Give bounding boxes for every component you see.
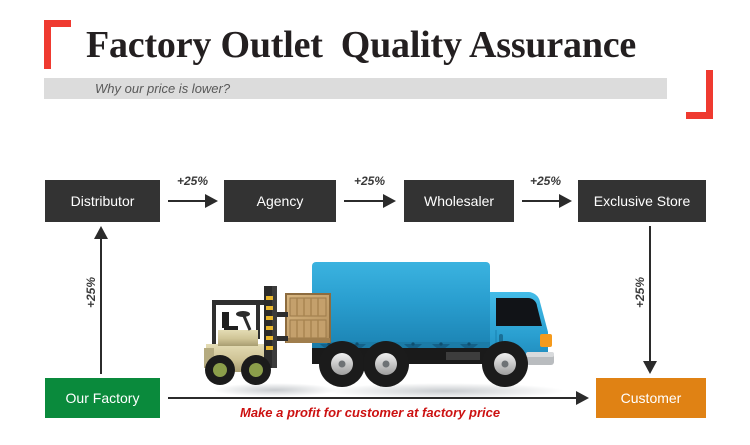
arrow-shaft	[100, 237, 102, 374]
direct-sale-caption: Make a profit for customer at factory pr…	[240, 405, 500, 420]
subtitle-text: Why our price is lower?	[95, 78, 230, 99]
arrow-shaft	[344, 200, 384, 202]
flow-node-label: Distributor	[71, 193, 135, 209]
flow-node-distributor[interactable]: Distributor	[45, 180, 160, 222]
markup-label-wholesaler-to-exclusive-store: +25%	[530, 174, 561, 188]
page-title: Factory OutletQuality Assurance	[86, 22, 686, 68]
markup-label-agency-to-wholesaler: +25%	[354, 174, 385, 188]
page-title-left: Factory Outlet	[86, 24, 323, 66]
arrow-agency-to-wholesaler	[344, 194, 396, 208]
arrow-distributor-to-agency	[168, 194, 218, 208]
markup-label-exclusive-store-to-customer: +25%	[633, 277, 647, 308]
corner-bracket-top-left	[44, 20, 71, 69]
arrow-shaft	[168, 200, 206, 202]
page-title-right: Quality Assurance	[341, 24, 636, 66]
arrow-shaft	[649, 226, 651, 363]
flow-node-label: Wholesaler	[424, 193, 494, 209]
markup-label-factory-to-distributor: +25%	[84, 277, 98, 308]
flow-node-our-factory[interactable]: Our Factory	[45, 378, 160, 418]
arrow-head	[205, 194, 218, 208]
slide-canvas: Factory OutletQuality Assurance Why our …	[0, 0, 750, 445]
flow-node-label: Customer	[621, 390, 682, 406]
markup-label-distributor-to-agency: +25%	[177, 174, 208, 188]
corner-bracket-bottom-right	[686, 70, 713, 119]
arrow-shaft	[522, 200, 560, 202]
flow-node-label: Agency	[257, 193, 304, 209]
arrow-head	[643, 361, 657, 374]
arrow-head	[559, 194, 572, 208]
arrow-wholesaler-to-exclusive-store	[522, 194, 572, 208]
flow-node-customer[interactable]: Customer	[596, 378, 706, 418]
flow-node-exclusive-store[interactable]: Exclusive Store	[578, 180, 706, 222]
arrow-shaft	[168, 397, 577, 399]
arrow-factory-to-customer-direct	[168, 391, 590, 405]
arrow-head	[576, 391, 589, 405]
forklift-loading-truck-illustration	[200, 252, 565, 400]
arrow-head	[383, 194, 396, 208]
flow-node-wholesaler[interactable]: Wholesaler	[404, 180, 514, 222]
flow-node-label: Exclusive Store	[594, 193, 690, 209]
flow-node-agency[interactable]: Agency	[224, 180, 336, 222]
flow-node-label: Our Factory	[66, 390, 140, 406]
